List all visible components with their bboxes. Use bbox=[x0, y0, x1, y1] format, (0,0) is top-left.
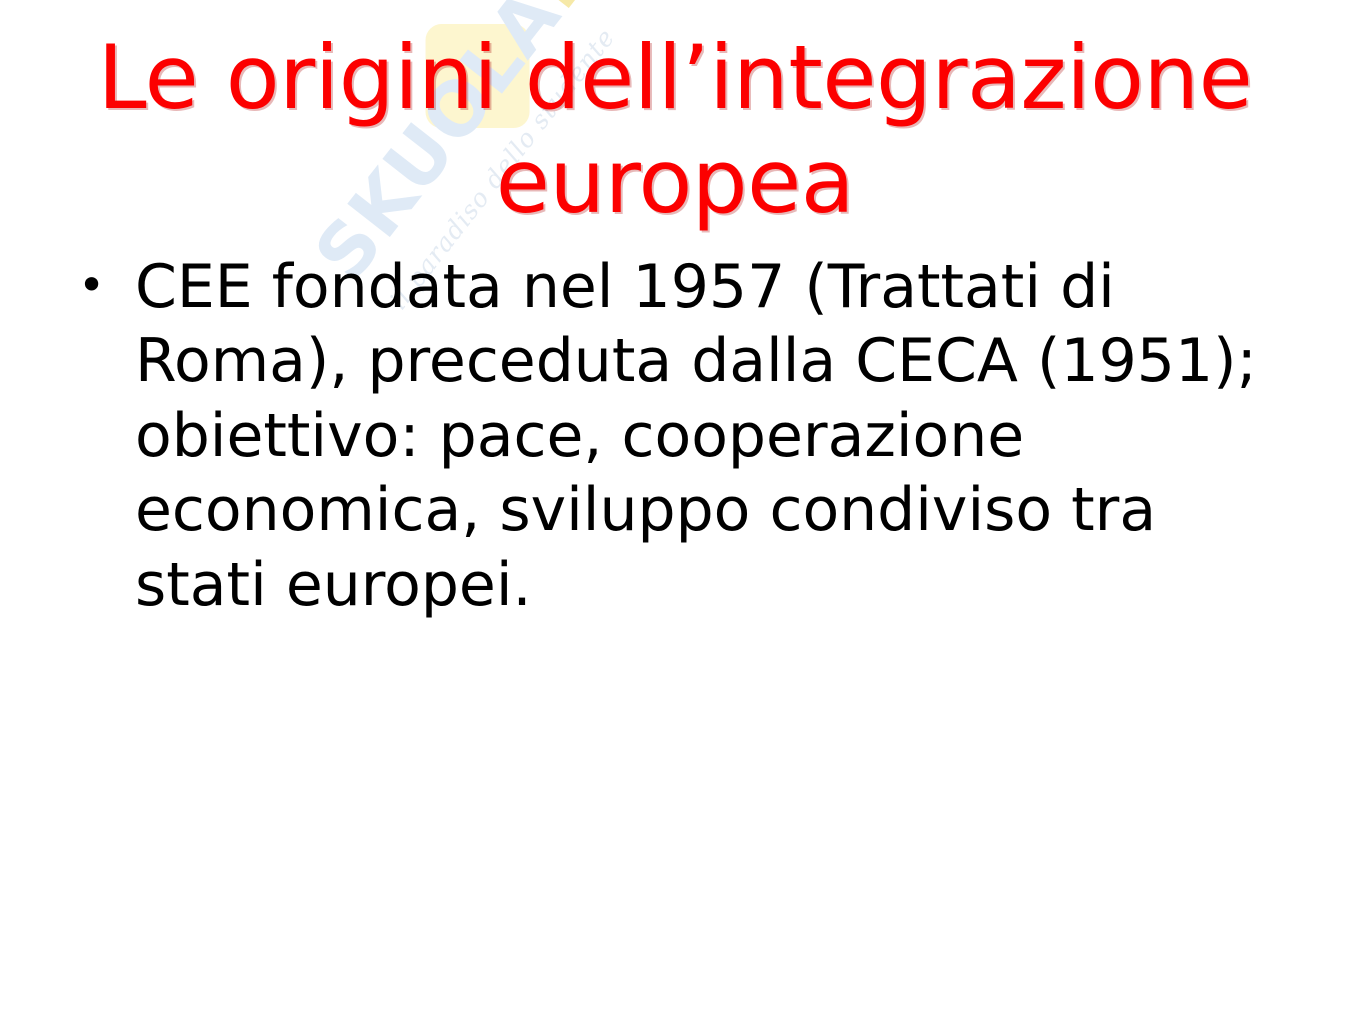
watermark-dot: . bbox=[510, 0, 596, 25]
bullet-item-text: CEE fondata nel 1957 (Trattati di Roma),… bbox=[135, 250, 1280, 622]
slide-body: • CEE fondata nel 1957 (Trattati di Roma… bbox=[78, 250, 1308, 622]
presentation-slide: SKUOLA.net il paradiso dello studente Le… bbox=[0, 0, 1350, 1013]
slide-title: Le origini dell’integrazione europea bbox=[60, 26, 1290, 234]
bullet-marker-icon: • bbox=[78, 250, 135, 321]
bullet-list-item: • CEE fondata nel 1957 (Trattati di Roma… bbox=[78, 250, 1308, 622]
slide-title-line-2: europea bbox=[60, 130, 1290, 234]
slide-title-line-1: Le origini dell’integrazione bbox=[60, 26, 1290, 130]
